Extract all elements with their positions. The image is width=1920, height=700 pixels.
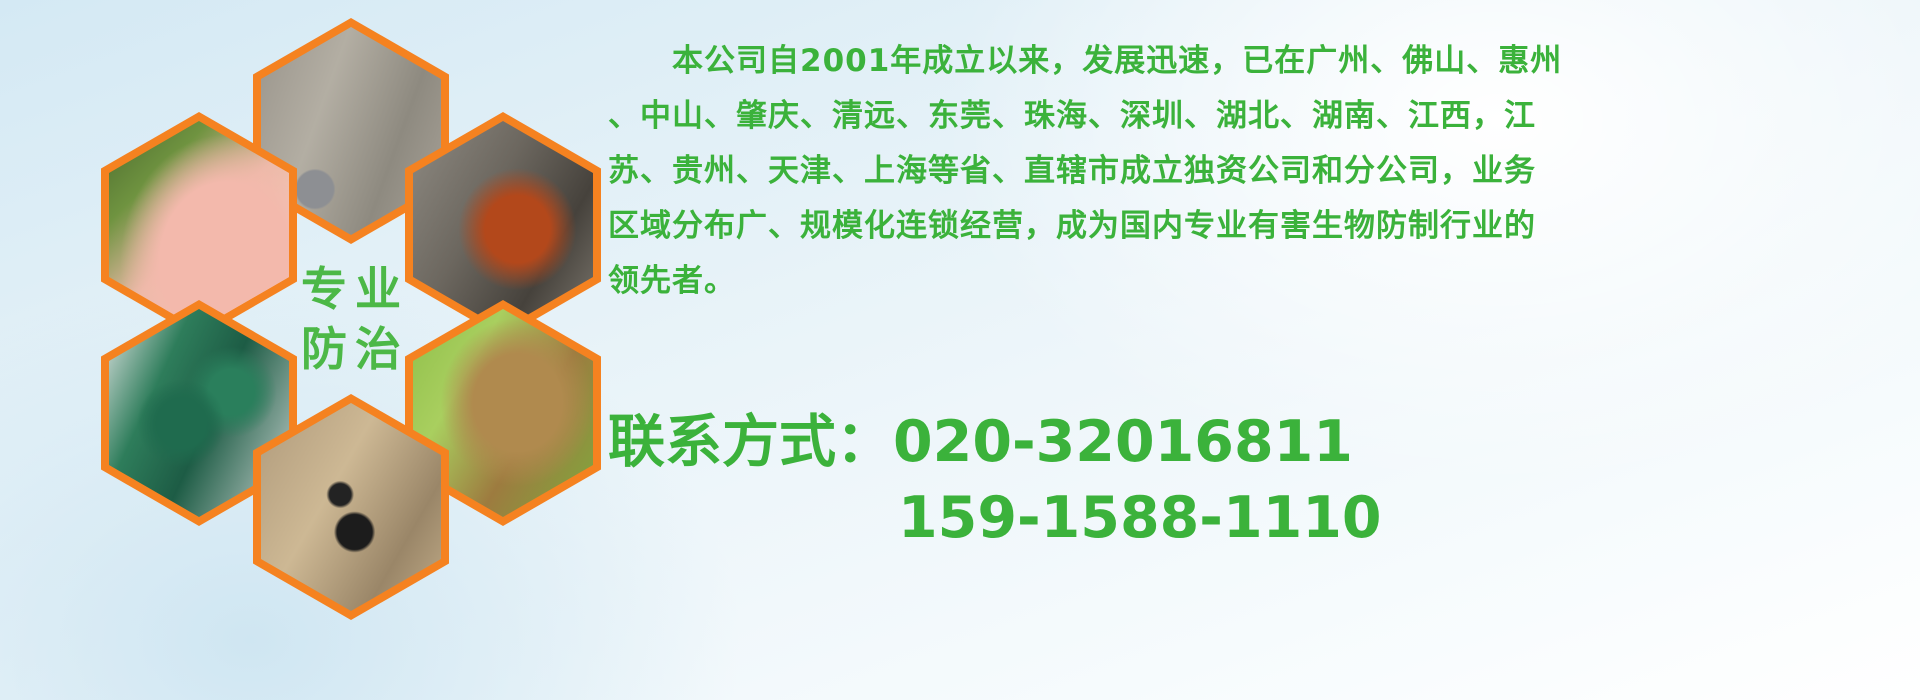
intro-line: 领先者。 bbox=[608, 254, 1908, 309]
contact-phone-mobile[interactable]: 159-1588-1110 bbox=[608, 480, 1908, 556]
contact-block: 联系方式：020-32016811 159-1588-1110 bbox=[608, 404, 1908, 556]
intro-line: 、中山、肇庆、清远、东莞、珠海、深圳、湖北、湖南、江西，江 bbox=[608, 89, 1908, 144]
hex-photo-frame bbox=[261, 403, 441, 611]
intro-line: 本公司自2001年成立以来，发展迅速，已在广州、佛山、惠州 bbox=[608, 34, 1908, 89]
promo-banner: 专业 防治 本公司自2001年成立以来，发展迅速，已在广州、佛山、惠州 、中山、… bbox=[0, 0, 1920, 700]
text-column: 本公司自2001年成立以来，发展迅速，已在广州、佛山、惠州 、中山、肇庆、清远、… bbox=[608, 0, 1908, 700]
hex-slogan-frame: 专业 防治 bbox=[261, 215, 441, 423]
company-intro-paragraph: 本公司自2001年成立以来，发展迅速，已在广州、佛山、惠州 、中山、肇庆、清远、… bbox=[608, 34, 1908, 309]
slogan-line-1: 专业 bbox=[293, 266, 409, 312]
intro-line: 苏、贵州、天津、上海等省、直辖市成立独资公司和分公司，业务 bbox=[608, 144, 1908, 199]
slogan-line-2: 防治 bbox=[293, 326, 409, 372]
slogan-text: 专业 防治 bbox=[261, 215, 441, 423]
ant-photo bbox=[261, 403, 441, 611]
contact-phone-primary[interactable]: 联系方式：020-32016811 bbox=[608, 404, 1908, 480]
honeycomb-pest-collage: 专业 防治 bbox=[75, 0, 595, 560]
intro-line: 区域分布广、规模化连锁经营，成为国内专业有害生物防制行业的 bbox=[608, 199, 1908, 254]
